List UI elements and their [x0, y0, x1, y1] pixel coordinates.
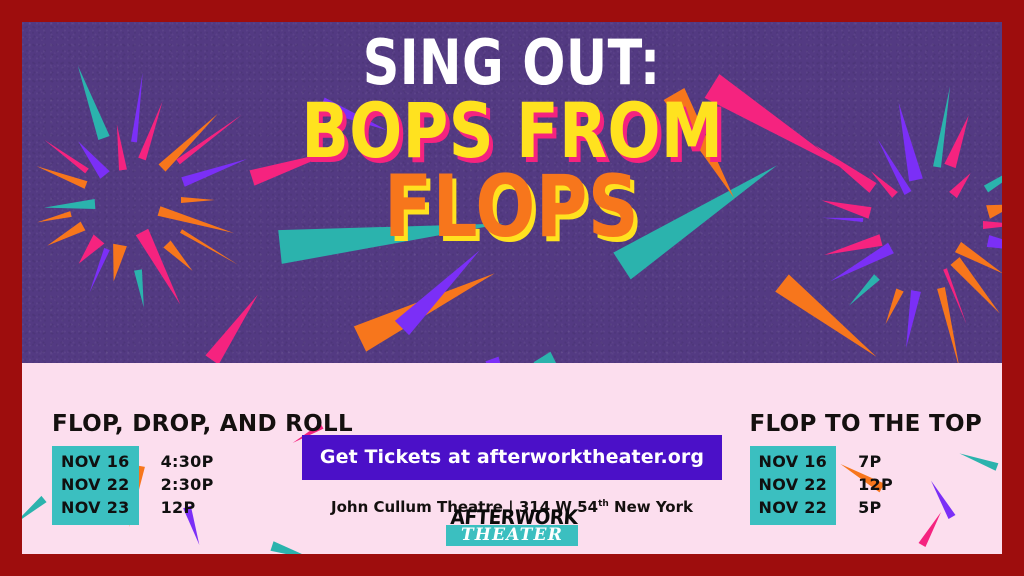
confetti-shard [270, 541, 317, 554]
time-column-left: 4:30P 2:30P 12P [139, 446, 214, 525]
title-line-2: BOPS FROM [301, 96, 723, 167]
time-item: 12P [161, 496, 214, 519]
date-column-right: NOV 16 NOV 22 NOV 22 [750, 446, 837, 525]
get-tickets-button[interactable]: Get Tickets at afterworktheater.org [302, 435, 722, 480]
confetti-shard [22, 496, 47, 528]
show-title-left: FLOP, DROP, AND ROLL [52, 411, 353, 437]
time-item: 4:30P [161, 450, 214, 473]
logo-wordmark-top: AFTERWORK [450, 507, 574, 527]
poster-frame: SING OUT: BOPS FROM FLOPS FLOP, DROP, AN… [22, 22, 1002, 554]
title-line-3: FLOPS [384, 168, 639, 248]
venue-city: New York [614, 498, 693, 516]
poster-title: SING OUT: BOPS FROM FLOPS [22, 22, 1002, 363]
time-item: 5P [858, 496, 893, 519]
ticket-section: Get Tickets at afterworktheater.org John… [302, 435, 722, 516]
time-item: 12P [858, 473, 893, 496]
time-column-right: 7P 12P 5P [836, 446, 893, 525]
showtimes-right: NOV 16 NOV 22 NOV 22 7P 12P 5P [750, 446, 982, 525]
date-item: NOV 22 [759, 473, 828, 496]
poster: SING OUT: BOPS FROM FLOPS FLOP, DROP, AN… [0, 0, 1024, 576]
date-item: NOV 16 [61, 450, 130, 473]
footer-background: FLOP, DROP, AND ROLL NOV 16 NOV 22 NOV 2… [22, 363, 1002, 554]
show-block-right: FLOP TO THE TOP NOV 16 NOV 22 NOV 22 7P … [750, 411, 982, 525]
venue-address-ordinal: th [598, 499, 609, 509]
date-item: NOV 23 [61, 496, 130, 519]
time-item: 7P [858, 450, 893, 473]
date-item: NOV 16 [759, 450, 828, 473]
date-column-left: NOV 16 NOV 22 NOV 23 [52, 446, 139, 525]
show-title-right: FLOP TO THE TOP [750, 411, 982, 437]
title-line-1: SING OUT: [363, 34, 661, 92]
afterwork-theater-logo: AFTERWORK THEATER [446, 507, 578, 546]
date-item: NOV 22 [61, 473, 130, 496]
date-item: NOV 22 [759, 496, 828, 519]
time-item: 2:30P [161, 473, 214, 496]
